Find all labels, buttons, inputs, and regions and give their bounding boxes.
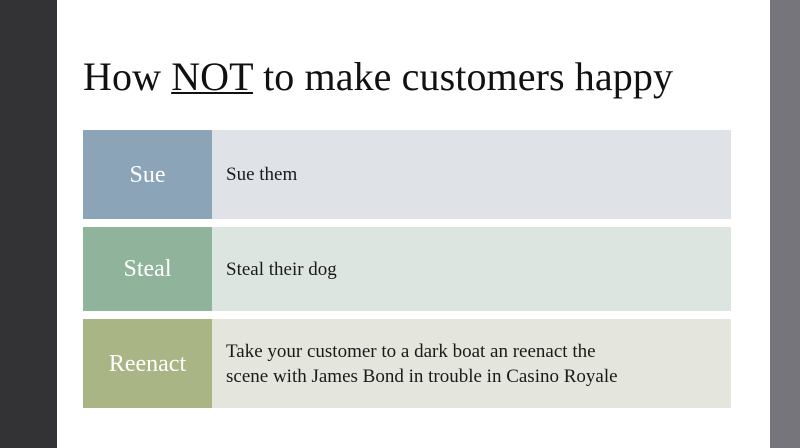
table-row: Steal Steal their dog xyxy=(83,227,731,311)
table-row-content-cell: Sue them xyxy=(212,130,731,219)
left-frame-bar xyxy=(0,0,57,448)
table-row: Sue Sue them xyxy=(83,130,731,219)
table-row-label-cell: Steal xyxy=(83,227,212,311)
table-row-label-text: Steal xyxy=(124,255,172,283)
table-row-label-cell: Reenact xyxy=(83,319,212,408)
table-row-label-text: Sue xyxy=(130,161,166,189)
slide-canvas: How NOT to make customers happy Sue Sue … xyxy=(57,0,770,448)
table-row-content-cell: Steal their dog xyxy=(212,227,731,311)
table-row: Reenact Take your customer to a dark boa… xyxy=(83,319,731,408)
page-title-part-1: How xyxy=(83,54,171,99)
table-row-content-text: Steal their dog xyxy=(226,257,337,282)
page-title-emphasis: NOT xyxy=(171,54,253,99)
page-title: How NOT to make customers happy xyxy=(83,52,743,102)
table-row-label-text: Reenact xyxy=(109,350,186,378)
table-row-label-cell: Sue xyxy=(83,130,212,219)
page-title-part-2: to make customers happy xyxy=(253,54,673,99)
content-table: Sue Sue them Steal Steal their dog Reena… xyxy=(83,130,731,408)
right-frame-bar xyxy=(770,0,800,448)
table-row-content-text: Take your customer to a dark boat an ree… xyxy=(226,339,618,389)
slide-root: How NOT to make customers happy Sue Sue … xyxy=(0,0,800,448)
table-row-content-cell: Take your customer to a dark boat an ree… xyxy=(212,319,731,408)
table-row-content-text: Sue them xyxy=(226,162,297,187)
